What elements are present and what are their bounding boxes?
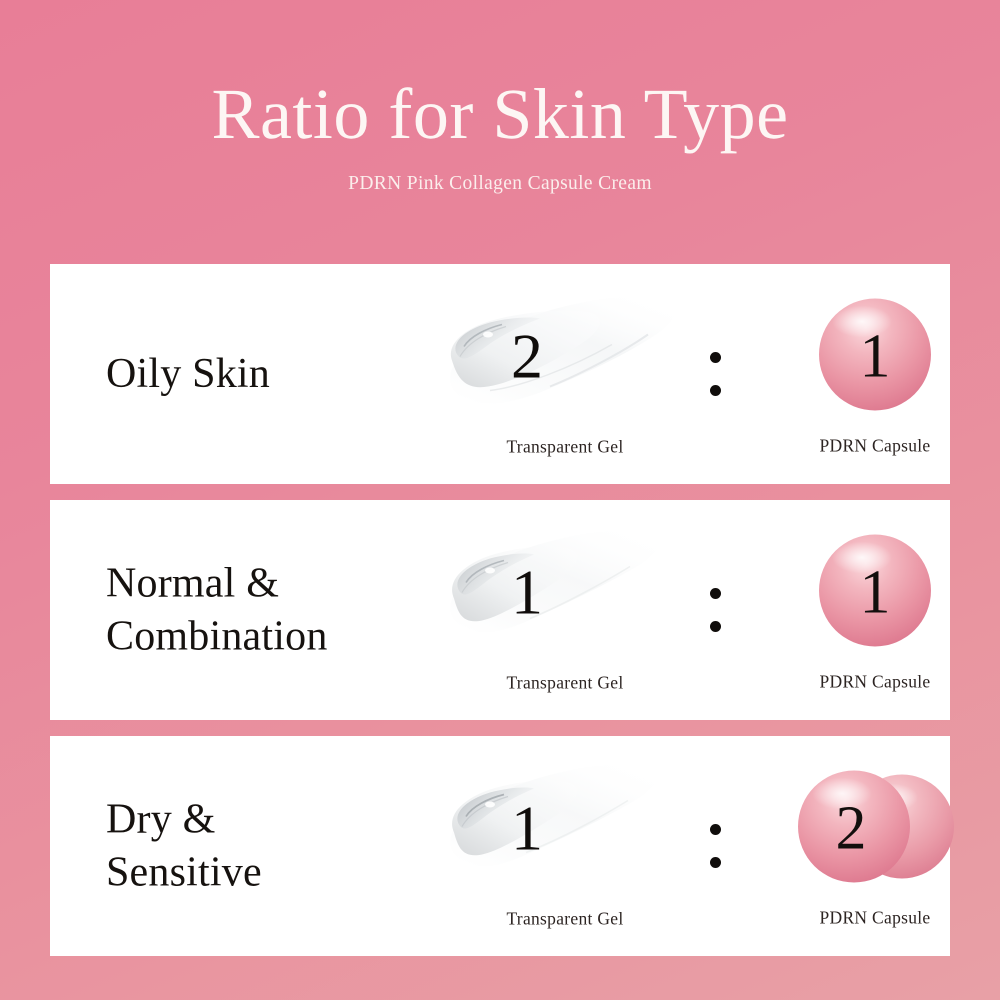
ratio-separator: [710, 588, 721, 632]
gel-ratio-value: 1: [430, 527, 700, 659]
capsule-ratio-value: 1: [750, 528, 1000, 658]
pdrn-capsule-icon: 1: [750, 292, 1000, 422]
gel-caption: Transparent Gel: [430, 437, 700, 458]
poster-header: Ratio for Skin Type PDRN Pink Collagen C…: [0, 78, 1000, 195]
skin-type-label: Normal & Combination: [106, 558, 328, 663]
colon-dot-bottom: [710, 385, 721, 396]
transparent-gel-icon: 1: [430, 527, 700, 659]
transparent-gel-icon: 1: [430, 763, 700, 895]
colon-dot-top: [710, 588, 721, 599]
gel-ratio-value: 1: [430, 763, 700, 895]
capsule-caption: PDRN Capsule: [750, 908, 1000, 929]
skin-type-label: Dry & Sensitive: [106, 794, 262, 899]
transparent-gel-icon: 2: [430, 291, 700, 423]
capsule-column: 1 PDRN Capsule: [750, 528, 1000, 693]
gel-column: 2 Transparent Gel: [430, 291, 700, 458]
ratio-separator: [710, 824, 721, 868]
ratio-separator: [710, 352, 721, 396]
capsule-column: 1 PDRN Capsule: [750, 292, 1000, 457]
skin-type-label: Oily Skin: [106, 348, 270, 401]
pdrn-capsule-icon: 1: [750, 528, 1000, 658]
gel-ratio-value: 2: [430, 291, 700, 423]
gel-caption: Transparent Gel: [430, 673, 700, 694]
poster-root: Ratio for Skin Type PDRN Pink Collagen C…: [0, 0, 1000, 1000]
page-title: Ratio for Skin Type: [0, 78, 1000, 151]
ratio-card: Normal & Combination: [50, 500, 950, 720]
capsule-ratio-value: 2: [750, 764, 1000, 894]
ratio-card: Oily Skin: [50, 264, 950, 484]
gel-column: 1 Transparent Gel: [430, 527, 700, 694]
colon-dot-top: [710, 352, 721, 363]
capsule-column: 2 PDRN Capsule: [750, 764, 1000, 929]
capsule-caption: PDRN Capsule: [750, 672, 1000, 693]
colon-dot-bottom: [710, 621, 721, 632]
capsule-ratio-value: 1: [750, 292, 1000, 422]
pdrn-capsule-icon: 2: [750, 764, 1000, 894]
page-subtitle: PDRN Pink Collagen Capsule Cream: [0, 173, 1000, 195]
capsule-caption: PDRN Capsule: [750, 436, 1000, 457]
gel-column: 1 Transparent Gel: [430, 763, 700, 930]
gel-caption: Transparent Gel: [430, 909, 700, 930]
colon-dot-bottom: [710, 857, 721, 868]
ratio-card: Dry & Sensitive: [50, 736, 950, 956]
ratio-card-list: Oily Skin: [50, 264, 950, 956]
colon-dot-top: [710, 824, 721, 835]
